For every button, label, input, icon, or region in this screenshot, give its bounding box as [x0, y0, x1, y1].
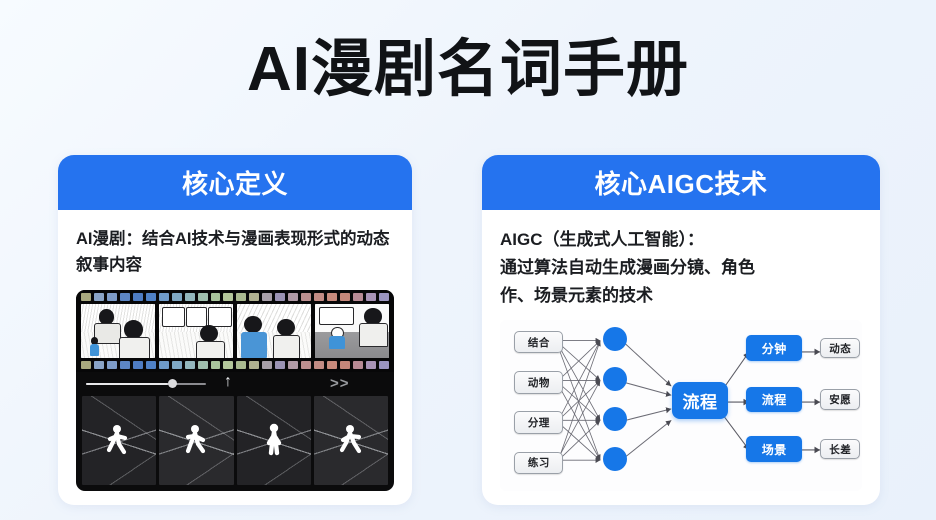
playback-slider[interactable]: [86, 378, 206, 390]
sprocket-hole: [198, 361, 208, 369]
sprocket-hole: [327, 361, 337, 369]
input-node-2[interactable]: 动物: [514, 371, 563, 393]
comic-panel: [315, 304, 389, 358]
sprocket-hole: [340, 361, 350, 369]
up-arrow-icon: ↑: [224, 374, 232, 390]
walk-cycle-row: [82, 396, 388, 485]
sprocket-hole: [249, 293, 259, 301]
sprocket-hole: [236, 361, 246, 369]
sprocket-hole: [301, 361, 311, 369]
sprocket-hole: [211, 293, 221, 301]
comic-panel: [81, 304, 155, 358]
sprocket-hole: [120, 293, 130, 301]
sprocket-hole: [275, 361, 285, 369]
output-node-3[interactable]: 长差: [820, 439, 860, 460]
hidden-node-1: [603, 327, 627, 351]
sprocket-hole: [172, 293, 182, 301]
sprocket-hole: [172, 361, 182, 369]
sprocket-hole: [81, 361, 91, 369]
pedestrian-icon: [261, 423, 287, 459]
sprocket-hole: [81, 293, 91, 301]
poster-root: AI漫剧名词手册 核心定义 AI漫剧：结合AI技术与漫画表现形式的动态叙事内容: [0, 0, 936, 520]
sprocket-hole: [366, 293, 376, 301]
sprocket-hole: [185, 361, 195, 369]
sprocket-hole: [379, 361, 389, 369]
walk-cycle-frame: [237, 396, 311, 485]
comic-panel: [159, 304, 233, 358]
sprocket-hole: [133, 293, 143, 301]
filmstrip-sprockets-bottom: [76, 361, 394, 372]
filmstrip-sprockets-top: [76, 290, 394, 301]
sprocket-hole: [275, 293, 285, 301]
sprocket-hole: [146, 293, 156, 301]
sprocket-hole: [262, 293, 272, 301]
hub-node[interactable]: 流程: [672, 382, 728, 420]
sprocket-hole: [211, 361, 221, 369]
sprocket-hole: [379, 293, 389, 301]
hidden-node-2: [603, 367, 627, 391]
sprocket-hole: [314, 293, 324, 301]
slider-knob[interactable]: [168, 379, 177, 388]
sprocket-hole: [159, 293, 169, 301]
page-title: AI漫剧名词手册: [0, 34, 936, 106]
sprocket-hole: [107, 293, 117, 301]
card-text-core-aigc-tech: AIGC（生成式人工智能）： 通过算法自动生成漫画分镜、角色 作、场景元素的技术: [500, 226, 862, 310]
comic-panel-row: [81, 304, 389, 358]
sprocket-hole: [366, 361, 376, 369]
card-body-core-definition: AI漫剧：结合AI技术与漫画表现形式的动态叙事内容: [58, 210, 412, 505]
input-node-4[interactable]: 练习: [514, 452, 563, 474]
sprocket-hole: [340, 293, 350, 301]
sprocket-hole: [223, 361, 233, 369]
walk-cycle-frame: [314, 396, 388, 485]
sprocket-hole: [249, 361, 259, 369]
card-header-core-definition: 核心定义: [58, 155, 412, 210]
sprocket-hole: [94, 361, 104, 369]
branch-node-1[interactable]: 分钟: [746, 335, 802, 361]
neural-flow-diagram: 结合 动物 分理 练习 流程 分钟 流程 场景 动态 安愿 长差: [500, 320, 862, 491]
sprocket-hole: [353, 293, 363, 301]
sprocket-hole: [94, 293, 104, 301]
pedestrian-icon: [106, 424, 132, 458]
pedestrian-icon: [338, 424, 364, 458]
output-node-2[interactable]: 安愿: [820, 389, 860, 410]
sprocket-hole: [133, 361, 143, 369]
sprocket-hole: [262, 361, 272, 369]
hidden-node-4: [603, 447, 627, 471]
branch-node-2[interactable]: 流程: [746, 387, 802, 413]
pedestrian-icon: [183, 424, 209, 458]
sprocket-hole: [107, 361, 117, 369]
filmstrip-media: ↑ >>: [76, 290, 394, 491]
card-core-definition: 核心定义 AI漫剧：结合AI技术与漫画表现形式的动态叙事内容: [58, 155, 412, 505]
input-node-3[interactable]: 分理: [514, 411, 563, 433]
sprocket-hole: [159, 361, 169, 369]
card-core-aigc-tech: 核心AIGC技术 AIGC（生成式人工智能）： 通过算法自动生成漫画分镜、角色 …: [482, 155, 880, 505]
sprocket-hole: [288, 293, 298, 301]
sprocket-hole: [288, 361, 298, 369]
sprocket-hole: [120, 361, 130, 369]
sprocket-hole: [223, 293, 233, 301]
hidden-node-3: [603, 407, 627, 431]
walk-cycle-frame: [159, 396, 233, 485]
sprocket-hole: [198, 293, 208, 301]
comic-panel: [237, 304, 311, 358]
diagram-nodes: 结合 动物 分理 练习 流程 分钟 流程 场景 动态 安愿 长差: [500, 320, 862, 491]
sprocket-hole: [236, 293, 246, 301]
card-text-core-definition: AI漫剧：结合AI技术与漫画表现形式的动态叙事内容: [76, 226, 394, 278]
sprocket-hole: [185, 293, 195, 301]
filmstrip: [76, 290, 394, 372]
sprocket-hole: [353, 361, 363, 369]
sprocket-hole: [314, 361, 324, 369]
walk-cycle-frame: [82, 396, 156, 485]
slider-fill: [86, 383, 168, 385]
input-node-1[interactable]: 结合: [514, 331, 563, 353]
sprocket-hole: [301, 293, 311, 301]
card-header-core-aigc-tech: 核心AIGC技术: [482, 155, 880, 210]
sprocket-hole: [327, 293, 337, 301]
output-node-1[interactable]: 动态: [820, 338, 860, 359]
card-body-core-aigc-tech: AIGC（生成式人工智能）： 通过算法自动生成漫画分镜、角色 作、场景元素的技术: [482, 210, 880, 505]
branch-node-3[interactable]: 场景: [746, 436, 802, 462]
fast-forward-icon: >>: [330, 376, 350, 391]
sprocket-hole: [146, 361, 156, 369]
